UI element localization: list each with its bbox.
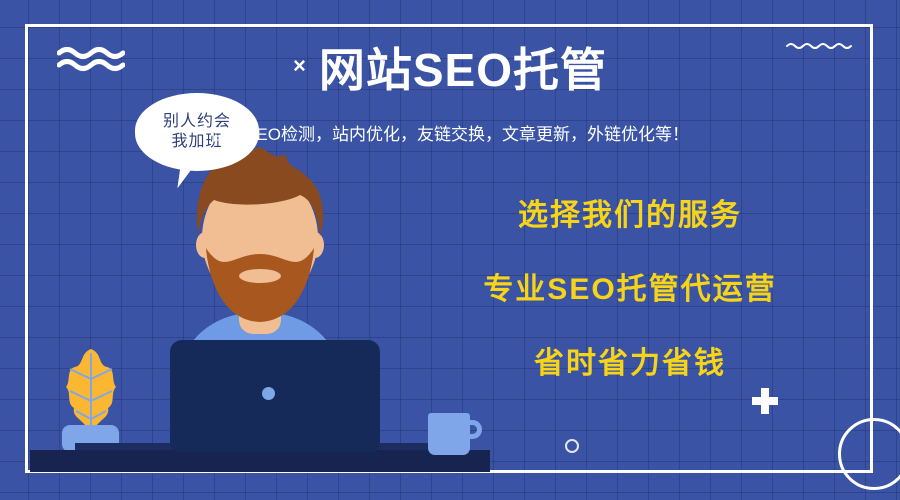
laptop-illustration	[170, 340, 380, 452]
value-prop-list: 选择我们的服务 专业SEO托管代运营 省时省力省钱	[420, 190, 840, 382]
title-text: 网站SEO托管	[319, 44, 607, 96]
circle-outline-icon-large	[838, 418, 900, 490]
poster-canvas: 别人约会 我加班 ×网站SEO托管 含：SEO检测，站内优化，友链交换，文章更新…	[0, 0, 900, 500]
circle-outline-icon-small	[565, 439, 579, 453]
potted-plant-illustration	[58, 345, 124, 437]
value-prop-2: 专业SEO托管代运营	[420, 264, 840, 308]
page-subtitle: 含：SEO检测，站内优化，友链交换，文章更新，外链优化等！	[0, 120, 900, 145]
value-prop-1: 选择我们的服务	[420, 190, 840, 234]
page-title: ×网站SEO托管	[0, 47, 900, 93]
desk-illustration	[30, 450, 490, 472]
laptop-logo-dot	[262, 387, 275, 400]
plus-icon	[752, 388, 778, 414]
value-prop-3: 省时省力省钱	[420, 338, 840, 382]
title-prefix-mark: ×	[293, 53, 307, 78]
